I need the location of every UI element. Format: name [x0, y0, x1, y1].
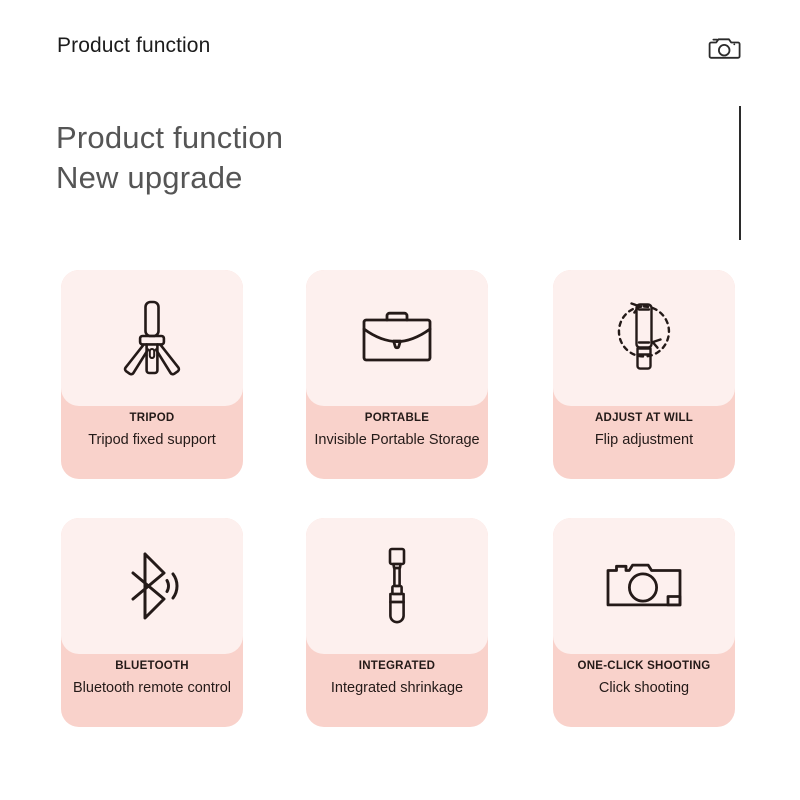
rotate-device-icon: [598, 292, 690, 384]
feature-card-integrated[interactable]: INTEGRATED Integrated shrinkage: [306, 518, 488, 727]
card-subtitle: Flip adjustment: [557, 430, 731, 450]
feature-card-bluetooth[interactable]: BLUETOOTH Bluetooth remote control: [61, 518, 243, 727]
feature-card-tripod[interactable]: TRIPOD Tripod fixed support: [61, 270, 243, 479]
feature-card-one-click-shooting[interactable]: ONE-CLICK SHOOTING Click shooting: [553, 518, 735, 727]
card-icon-panel: [306, 270, 488, 406]
feature-card-grid: TRIPOD Tripod fixed support: [61, 270, 735, 740]
product-function-page: Product function Product function New up…: [0, 0, 800, 800]
card-icon-panel: [306, 518, 488, 654]
camera-icon: [598, 540, 690, 632]
card-icon-panel: [553, 270, 735, 406]
card-title: TRIPOD: [65, 410, 239, 427]
card-icon-panel: [553, 518, 735, 654]
card-text: INTEGRATED Integrated shrinkage: [306, 658, 488, 698]
hero-heading: Product function New upgrade: [56, 118, 616, 198]
card-subtitle: Click shooting: [557, 678, 731, 698]
camera-icon[interactable]: [708, 32, 742, 64]
card-icon-panel: [61, 518, 243, 654]
selfie-stick-icon: [351, 540, 443, 632]
card-subtitle: Bluetooth remote control: [65, 678, 239, 698]
hero-line-2: New upgrade: [56, 158, 616, 198]
card-text: ONE-CLICK SHOOTING Click shooting: [553, 658, 735, 698]
card-text: ADJUST AT WILL Flip adjustment: [553, 410, 735, 450]
card-icon-panel: [61, 270, 243, 406]
feature-card-adjust-at-will[interactable]: ADJUST AT WILL Flip adjustment: [553, 270, 735, 479]
card-text: BLUETOOTH Bluetooth remote control: [61, 658, 243, 698]
card-title: INTEGRATED: [310, 658, 484, 675]
card-title: ADJUST AT WILL: [557, 410, 731, 427]
feature-card-portable[interactable]: PORTABLE Invisible Portable Storage: [306, 270, 488, 479]
tripod-icon: [106, 292, 198, 384]
card-subtitle: Invisible Portable Storage: [310, 430, 484, 450]
hero-line-1: Product function: [56, 118, 616, 158]
card-subtitle: Tripod fixed support: [65, 430, 239, 450]
bluetooth-icon: [106, 540, 198, 632]
card-subtitle: Integrated shrinkage: [310, 678, 484, 698]
card-title: BLUETOOTH: [65, 658, 239, 675]
card-title: ONE-CLICK SHOOTING: [557, 658, 731, 675]
card-text: PORTABLE Invisible Portable Storage: [306, 410, 488, 450]
card-text: TRIPOD Tripod fixed support: [61, 410, 243, 450]
card-title: PORTABLE: [310, 410, 484, 427]
top-bar: Product function: [0, 0, 800, 96]
page-title: Product function: [57, 34, 210, 58]
briefcase-icon: [351, 292, 443, 384]
vertical-divider: [739, 106, 741, 240]
